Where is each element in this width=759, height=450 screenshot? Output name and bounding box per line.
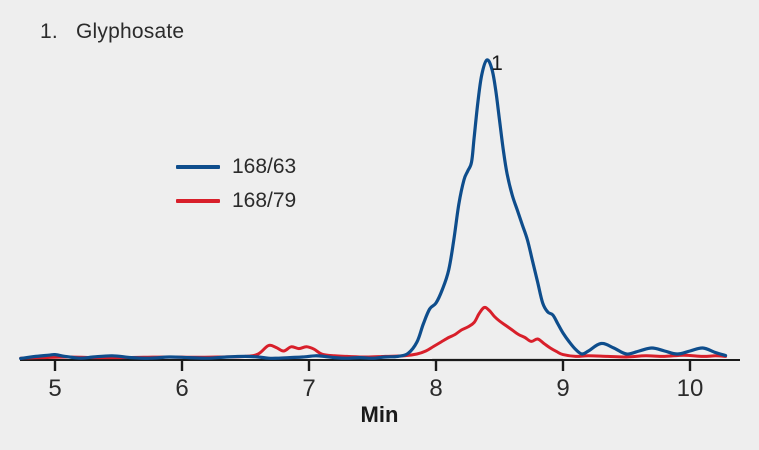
plot-area: 5678910 1 bbox=[0, 0, 759, 450]
series-line-168-63 bbox=[21, 60, 726, 359]
chromatogram-figure: 1. Glyphosate 168/63 168/79 5678910 1 Mi… bbox=[0, 0, 759, 450]
x-axis bbox=[20, 360, 740, 371]
peak-number-label: 1 bbox=[491, 52, 503, 75]
x-tick-label-8: 8 bbox=[429, 375, 442, 402]
x-tick-label-6: 6 bbox=[175, 375, 188, 402]
x-tick-label-9: 9 bbox=[556, 375, 569, 402]
x-tick-label-7: 7 bbox=[302, 375, 315, 402]
x-tick-label-5: 5 bbox=[48, 375, 61, 402]
peak-annotations: 1 bbox=[491, 52, 503, 75]
x-axis-title: Min bbox=[0, 402, 759, 428]
x-axis-tick-labels: 5678910 bbox=[48, 375, 703, 402]
data-series-group bbox=[21, 60, 726, 359]
x-tick-label-10: 10 bbox=[677, 375, 704, 402]
